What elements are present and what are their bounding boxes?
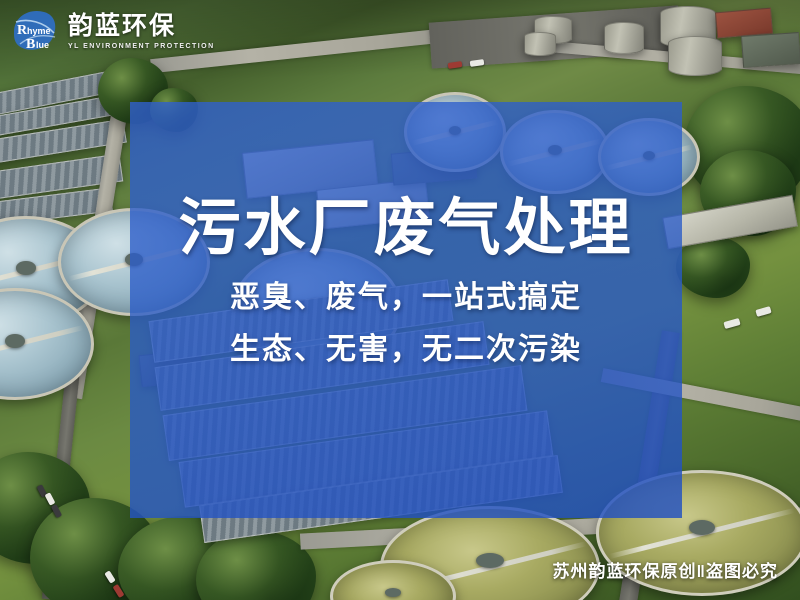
vehicle-van-right-1	[723, 318, 740, 329]
silo-2	[524, 32, 556, 56]
tank-hub	[16, 261, 36, 275]
silo-3	[604, 22, 644, 54]
headline-title: 污水厂废气处理	[130, 196, 682, 263]
vehicle-van-top-2	[448, 61, 463, 69]
tank-hub	[5, 334, 25, 348]
tank-hub	[385, 588, 401, 597]
silo-5	[668, 36, 722, 76]
headline-block: 污水厂废气处理 恶臭、废气，一站式搞定 生态、无害，无二次污染	[130, 196, 682, 365]
copyright-watermark: 苏州韵蓝环保原创‖盗图必究	[553, 557, 778, 582]
promo-banner: R hyme B lue 韵蓝环保 YL ENVIRONMENT PROTECT…	[0, 0, 800, 600]
svg-text:hyme: hyme	[27, 26, 51, 36]
leaf-circle-logo-icon: R hyme B lue	[8, 6, 60, 54]
brand-logo[interactable]: R hyme B lue 韵蓝环保 YL ENVIRONMENT PROTECT…	[8, 6, 215, 54]
brand-name-en: YL ENVIRONMENT PROTECTION	[68, 43, 215, 50]
svg-text:B: B	[26, 37, 35, 52]
vehicle-van-right-2	[755, 306, 771, 317]
brand-name-cn: 韵蓝环保	[68, 14, 215, 39]
tank-hub	[476, 553, 504, 568]
vehicle-van-top-1	[470, 59, 485, 67]
svg-text:lue: lue	[36, 40, 49, 50]
headline-subtitle-1: 恶臭、废气，一站式搞定	[130, 283, 682, 313]
headline-subtitle-2: 生态、无害，无二次污染	[130, 335, 682, 365]
building-dark-top	[741, 32, 800, 68]
brand-wordmark: 韵蓝环保 YL ENVIRONMENT PROTECTION	[68, 10, 215, 50]
